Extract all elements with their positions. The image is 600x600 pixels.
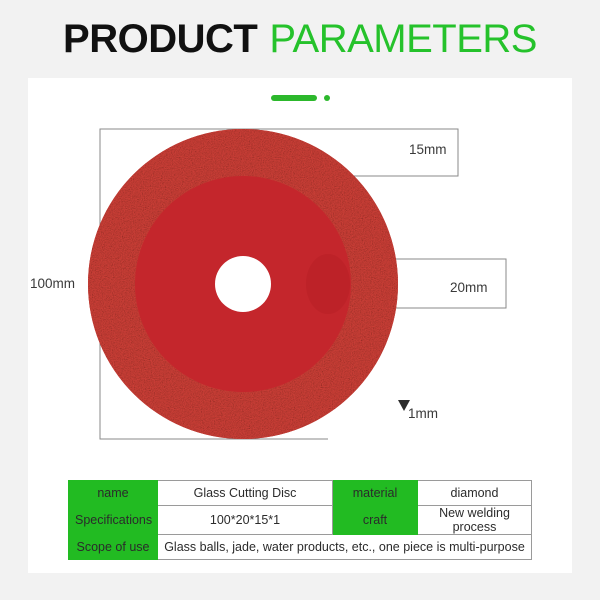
content-card: 100mm 15mm 20mm 1mm name Glass Cutting D… (28, 78, 572, 573)
spec-value-material: diamond (418, 481, 532, 506)
title-main-text: PRODUCT (63, 17, 257, 62)
spec-value-craft: New welding process (418, 506, 532, 535)
page-title: PRODUCT PARAMETERS (0, 0, 600, 78)
divider-dot-icon (324, 95, 330, 101)
dimension-label-diameter: 100mm (30, 276, 75, 291)
spec-key-name: name (69, 481, 158, 506)
spec-key-scope: Scope of use (69, 535, 158, 560)
spec-key-craft: craft (333, 506, 418, 535)
table-row: name Glass Cutting Disc material diamond (69, 481, 532, 506)
spec-key-material: material (333, 481, 418, 506)
spec-value-scope: Glass balls, jade, water products, etc.,… (158, 535, 532, 560)
spec-value-name: Glass Cutting Disc (158, 481, 333, 506)
section-divider (28, 92, 572, 104)
spec-key-specifications: Specifications (69, 506, 158, 535)
divider-bar-icon (271, 95, 317, 101)
table-row: Scope of use Glass balls, jade, water pr… (69, 535, 532, 560)
specification-table: name Glass Cutting Disc material diamond… (68, 480, 532, 560)
disc-diagram-svg (28, 104, 572, 478)
disc-diagram: 100mm 15mm 20mm 1mm (28, 104, 572, 478)
table-row: Specifications 100*20*15*1 craft New wel… (69, 506, 532, 535)
disc-sheen (306, 254, 350, 314)
disc-center-bore (215, 256, 271, 312)
spec-value-specifications: 100*20*15*1 (158, 506, 333, 535)
dimension-label-rim-width: 15mm (409, 142, 447, 157)
title-accent-text: PARAMETERS (269, 17, 537, 62)
dimension-label-thickness: 1mm (408, 406, 438, 421)
dimension-label-bore: 20mm (450, 280, 488, 295)
